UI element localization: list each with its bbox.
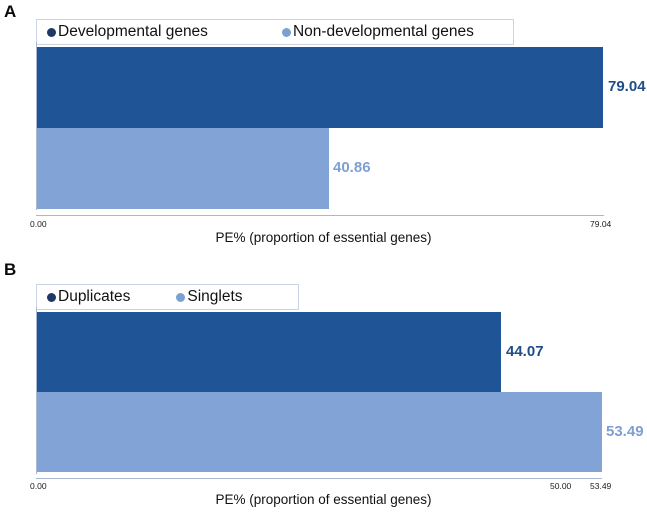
legend-label-singlets: Singlets [187,289,242,305]
legend-item-duplicates: Duplicates [47,289,130,305]
panel-b-bar-value-singlets: 53.49 [606,423,644,440]
legend-label-developmental-genes: Developmental genes [58,24,208,40]
panel-b-xtick-0: 0.00 [30,481,47,491]
panel-b-x-axis-title: PE% (proportion of essential genes) [0,492,647,507]
panel-b-xtick-50: 50.00 [550,481,571,491]
panel-b-letter: B [4,260,16,280]
panel-a-bar-value-developmental-genes: 79.04 [608,78,646,95]
panel-b-bar-value-duplicates: 44.07 [506,343,544,360]
panel-b-bar-duplicates [37,312,501,392]
legend-dot-dark-icon [47,28,56,37]
legend-dot-light-icon [282,28,291,37]
legend-dot-dark-icon [47,293,56,302]
panel-b-legend: Duplicates Singlets [36,284,299,310]
legend-item-non-developmental-genes: Non-developmental genes [282,24,474,40]
panel-a-bar-non-developmental-genes [37,128,329,209]
legend-label-duplicates: Duplicates [58,289,130,305]
legend-dot-light-icon [176,293,185,302]
panel-a-xtick-0: 0.00 [30,219,47,229]
panel-a-legend: Developmental genes Non-developmental ge… [36,19,514,45]
panel-a-bar-developmental-genes [37,47,603,128]
figure-root: A Developmental genes Non-developmental … [0,0,647,517]
legend-item-developmental-genes: Developmental genes [47,24,208,40]
panel-b-bar-singlets [37,392,602,472]
legend-label-non-developmental-genes: Non-developmental genes [293,24,474,40]
panel-a: A Developmental genes Non-developmental … [0,0,647,253]
panel-a-bar-value-non-developmental-genes: 40.86 [333,159,371,176]
panel-a-x-axis-line [36,215,604,216]
panel-a-letter: A [4,2,16,22]
panel-b-x-axis-line [36,478,602,479]
panel-a-plot-area: 79.04 40.86 [36,47,603,215]
legend-item-singlets: Singlets [176,289,242,305]
panel-a-xtick-max: 79.04 [590,219,611,229]
panel-b-plot-area: 44.07 53.49 [36,312,601,477]
panel-a-x-axis-title: PE% (proportion of essential genes) [0,230,647,245]
panel-b-xtick-max: 53.49 [590,481,611,491]
